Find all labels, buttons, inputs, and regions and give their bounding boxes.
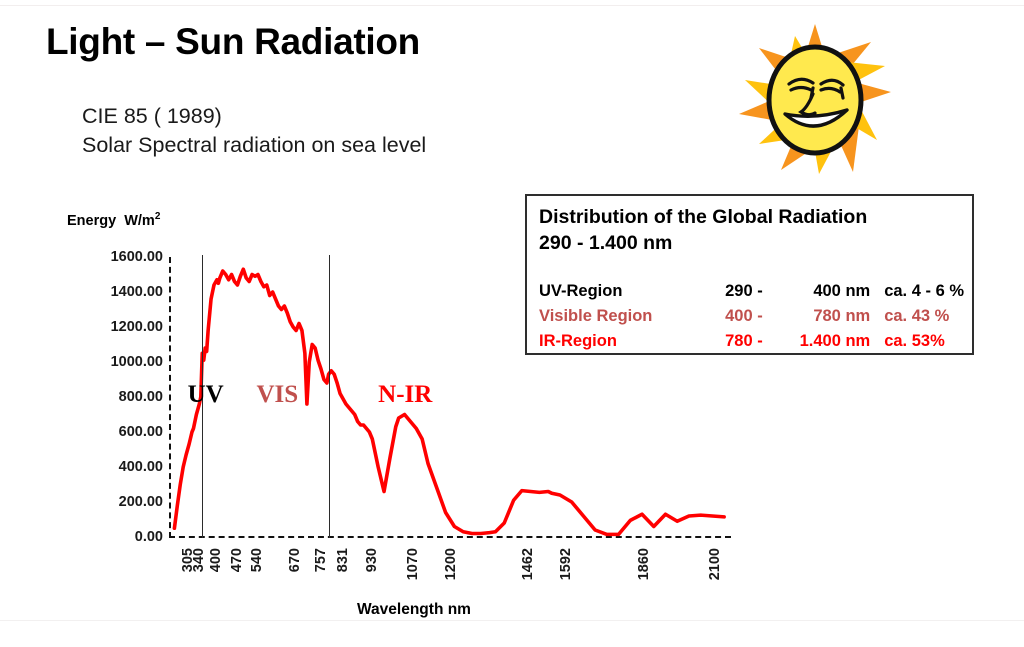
x-axis-tick-label: 757 [313, 548, 329, 572]
x-axis-title: Wavelength nm [357, 601, 471, 619]
x-axis-tick-label: 1462 [520, 548, 536, 580]
slide-canvas: Light – Sun Radiation CIE 85 ( 1989) Sol… [0, 0, 1024, 647]
cell-percent: ca. 43 % [884, 305, 964, 330]
region-divider-line [329, 255, 330, 538]
cell-percent: ca. 4 - 6 % [884, 280, 964, 305]
x-axis-tick-label: 1070 [405, 548, 421, 580]
y-axis-tick-label: 600.00 [119, 424, 163, 440]
cell-region: IR-Region [539, 330, 697, 355]
cell-from: 400 - [697, 305, 772, 330]
cell-region: UV-Region [539, 280, 697, 305]
x-axis-tick-label: 1200 [443, 548, 459, 580]
cell-to: 400 nm [773, 280, 884, 305]
x-axis-tick-label: 930 [364, 548, 380, 572]
table-row: IR-Region780 -1.400 nmca. 53% [539, 330, 964, 355]
table-row: UV-Region290 -400 nmca. 4 - 6 % [539, 280, 964, 305]
sun-face [769, 47, 861, 153]
y-axis-tick-label: 400.00 [119, 459, 163, 475]
x-axis-tick-label: 1592 [558, 548, 574, 580]
y-axis-tick-label: 200.00 [119, 494, 163, 510]
y-axis-tick-labels: 1600.001400.001200.001000.00800.00600.00… [0, 0, 163, 647]
y-axis-tick-label: 1600.00 [111, 249, 163, 265]
cell-to: 1.400 nm [773, 330, 884, 355]
region-label-uv: UV [188, 381, 224, 409]
y-axis-tick-label: 1200.00 [111, 319, 163, 335]
cell-from: 290 - [697, 280, 772, 305]
x-axis-tick-label: 831 [335, 548, 351, 572]
y-axis-tick-label: 0.00 [135, 529, 163, 545]
smiling-sun-icon [735, 22, 895, 177]
x-axis-tick-label: 540 [249, 548, 265, 572]
y-axis-tick-label: 1400.00 [111, 284, 163, 300]
cell-region: Visible Region [539, 305, 697, 330]
x-axis-tick-label: 400 [208, 548, 224, 572]
distribution-info-box: Distribution of the Global Radiation 290… [525, 194, 974, 355]
region-label-n-ir: N-IR [378, 381, 432, 409]
cell-percent: ca. 53% [884, 330, 964, 355]
x-axis-tick-label: 2100 [707, 548, 723, 580]
x-axis-tick-label: 670 [287, 548, 303, 572]
x-axis-tick-label: 340 [191, 548, 207, 572]
info-box-title-line-2: 290 - 1.400 nm [539, 230, 959, 256]
info-box-title-line-1: Distribution of the Global Radiation [539, 204, 959, 230]
y-axis-tick-label: 800.00 [119, 389, 163, 405]
table-row: Visible Region400 -780 nmca. 43 % [539, 305, 964, 330]
x-axis-tick-label: 1860 [636, 548, 652, 580]
y-axis-tick-label: 1000.00 [111, 354, 163, 370]
sun-svg [735, 22, 895, 177]
region-label-vis: VIS [256, 381, 298, 409]
cell-to: 780 nm [773, 305, 884, 330]
x-axis-tick-label: 470 [229, 548, 245, 572]
cell-from: 780 - [697, 330, 772, 355]
info-box-title: Distribution of the Global Radiation 290… [539, 204, 959, 256]
distribution-table: UV-Region290 -400 nmca. 4 - 6 %Visible R… [539, 280, 964, 355]
